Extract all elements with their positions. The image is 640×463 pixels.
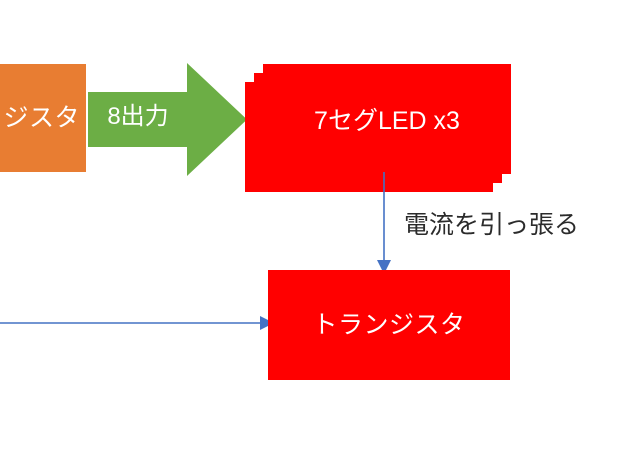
connector-drive-arrow[interactable] <box>0 312 276 334</box>
node-transistor[interactable]: トランジスタ <box>268 270 510 380</box>
connector-pull-current-arrow-label: 電流を引っ張る <box>404 213 579 238</box>
arrow-down-icon <box>372 172 396 276</box>
connector-pull-current-arrow[interactable] <box>372 172 396 276</box>
node-mcu-label: ジスタ <box>3 106 80 131</box>
connector-output-arrow[interactable]: 8出力 <box>88 63 248 176</box>
node-mcu[interactable]: ジスタ <box>0 64 86 172</box>
diagram-canvas: ジスタ 8出力 7セグLED x3 電流を引っ張る トランジスタ <box>0 0 640 463</box>
connector-output-arrow-label: 8出力 <box>88 105 188 129</box>
node-led-label: 7セグLED x3 <box>263 64 511 174</box>
arrow-right-icon <box>0 312 276 334</box>
node-transistor-label: トランジスタ <box>312 313 465 338</box>
